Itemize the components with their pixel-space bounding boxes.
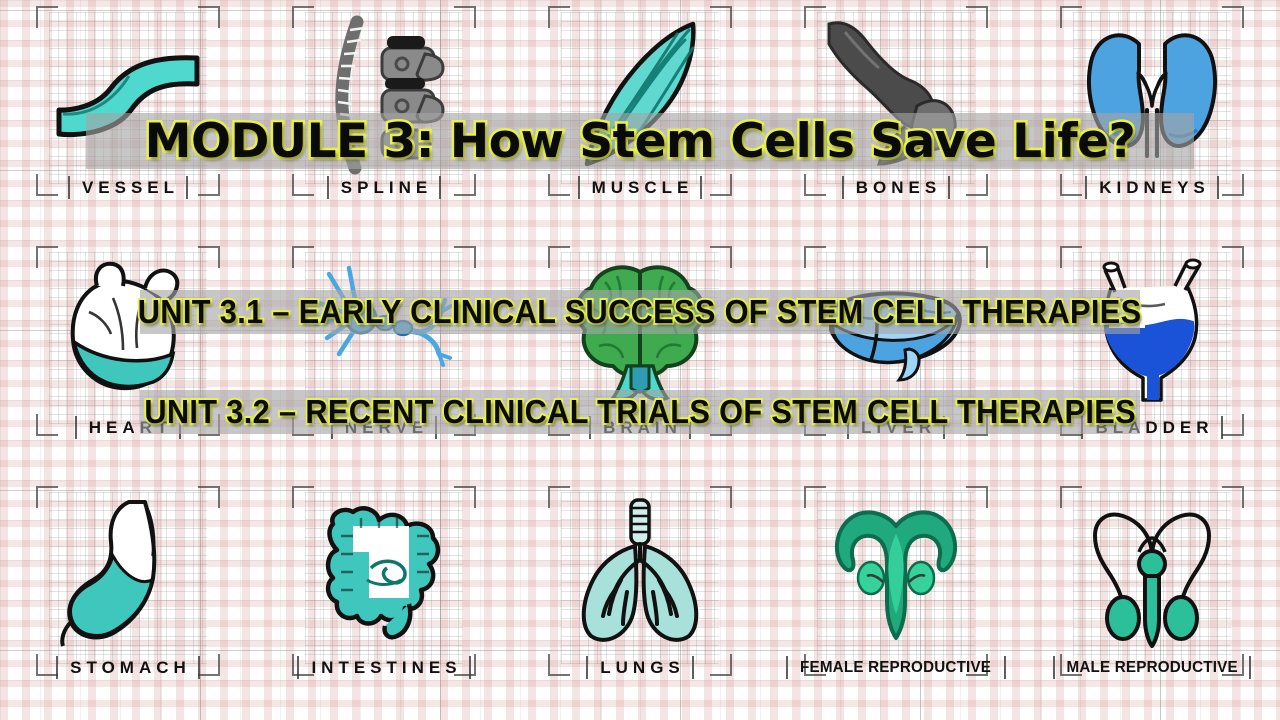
spine-icon [309,14,459,174]
organ-label-bones: BONES [851,178,941,198]
tick-mark-right [469,656,471,679]
blood-vessel-icon [53,14,203,174]
tick-mark-left [1053,656,1055,679]
tick-mark-right [1004,656,1006,679]
organ-label-kidneys: KIDNEYS [1094,178,1210,198]
tick-mark-left [842,176,844,199]
organ-label-bladder: BLADDER [1090,418,1213,438]
organ-label-wrap: MALE REPRODUCTIVE [1053,656,1251,679]
tick-mark-left [297,656,299,679]
tick-mark-left [75,416,77,439]
tick-mark-left [586,656,588,679]
muscle-icon [565,14,715,174]
brain-icon [565,254,715,414]
tick-mark-right [943,416,945,439]
tick-mark-left [589,416,591,439]
organ-cell-brain[interactable]: BRAIN [512,240,768,480]
tick-mark-right [948,176,950,199]
tick-mark-left [1085,176,1087,199]
tick-mark-right [692,656,694,679]
organ-cell-nerve[interactable]: NERVE [256,240,512,480]
tick-mark-right [179,416,181,439]
tick-mark-left [68,176,70,199]
tick-mark-left [1081,416,1083,439]
organ-label-wrap: INTESTINES [297,656,470,679]
tick-mark-right [186,176,188,199]
organ-label-wrap: BLADDER [1081,416,1222,439]
organ-label-wrap: LIVER [847,416,945,439]
organ-cell-kidneys[interactable]: KIDNEYS [1024,0,1280,240]
organ-label-wrap: BRAIN [589,416,691,439]
organ-label-lungs: LUNGS [595,658,685,678]
organ-label-wrap: NERVE [331,416,437,439]
organ-cell-lungs[interactable]: LUNGS [512,480,768,720]
kidneys-icon [1077,14,1227,174]
organ-label-intestines: INTESTINES [306,658,461,678]
organ-label-wrap: MUSCLE [578,176,703,199]
lungs-icon [565,494,715,654]
organ-cell-female-reproductive[interactable]: FEMALE REPRODUCTIVE [768,480,1024,720]
organ-label-wrap: VESSEL [68,176,188,199]
organ-cell-stomach[interactable]: STOMACH [0,480,256,720]
organ-label-wrap: KIDNEYS [1085,176,1219,199]
organ-label-liver: LIVER [856,418,936,438]
tick-mark-right [439,176,441,199]
organ-cell-muscle[interactable]: MUSCLE [512,0,768,240]
female-reproductive-icon [821,494,971,654]
tick-mark-left [847,416,849,439]
liver-icon [821,254,971,414]
organ-label-wrap: LUNGS [586,656,694,679]
intestines-icon [309,494,459,654]
organ-label-female-reproductive: FEMALE REPRODUCTIVE [800,659,991,677]
organ-label-wrap: FEMALE REPRODUCTIVE [786,656,1005,679]
nerve-neuron-icon [309,254,459,414]
heart-icon [53,254,203,414]
tick-mark-right [700,176,702,199]
organ-cell-spline[interactable]: SPLINE [256,0,512,240]
organ-label-brain: BRAIN [598,418,682,438]
tick-mark-left [786,656,788,679]
organ-label-heart: HEART [84,418,173,438]
tick-mark-right [1221,416,1223,439]
organ-label-wrap: STOMACH [56,656,200,679]
organ-cell-heart[interactable]: HEART [0,240,256,480]
organ-label-male-reproductive: MALE REPRODUCTIVE [1066,659,1237,677]
organ-label-wrap: BONES [842,176,950,199]
tick-mark-left [578,176,580,199]
tick-mark-right [689,416,691,439]
tick-mark-left [56,656,58,679]
bone-joint-icon [821,14,971,174]
tick-mark-right [435,416,437,439]
tick-mark-right [1217,176,1219,199]
organ-cell-vessel[interactable]: VESSEL [0,0,256,240]
organ-label-muscle: MUSCLE [587,178,694,198]
organ-cell-bones[interactable]: BONES [768,0,1024,240]
organ-label-wrap: HEART [75,416,182,439]
organ-label-vessel: VESSEL [77,178,179,198]
organ-label-wrap: SPLINE [327,176,441,199]
tick-mark-left [331,416,333,439]
organ-cell-male-reproductive[interactable]: MALE REPRODUCTIVE [1024,480,1280,720]
organ-cell-liver[interactable]: LIVER [768,240,1024,480]
tick-mark-left [327,176,329,199]
tick-mark-right [1249,656,1251,679]
organ-label-spline: SPLINE [336,178,432,198]
bladder-icon [1077,254,1227,414]
stomach-icon [53,494,203,654]
organ-cell-bladder[interactable]: BLADDER [1024,240,1280,480]
organ-grid: VESSEL [0,0,1280,720]
male-reproductive-icon [1077,494,1227,654]
organ-label-nerve: NERVE [340,418,428,438]
organ-label-stomach: STOMACH [65,658,191,678]
tick-mark-right [198,656,200,679]
organ-cell-intestines[interactable]: INTESTINES [256,480,512,720]
